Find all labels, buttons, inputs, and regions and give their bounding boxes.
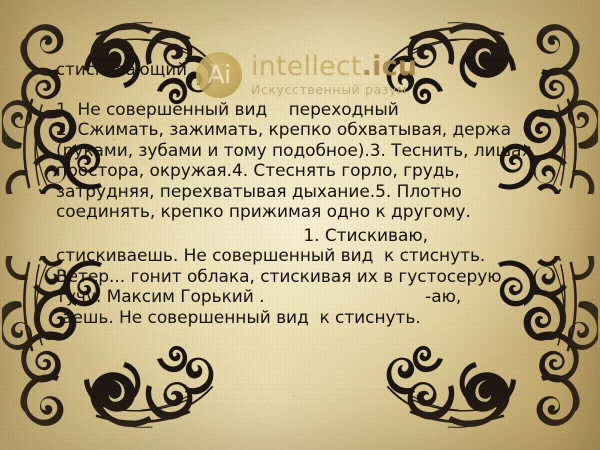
definition-line: затрудняя, перехватывая дыхание.5. Плотн… (56, 182, 556, 203)
definition-line: простора, окружая.4. Стеснять горло, гру… (56, 161, 556, 182)
conjugation-line: тучу. Максим Горький . -аю, (56, 287, 556, 308)
parchment-page: Ai intellect.icu Искусственный разум сти… (0, 0, 600, 450)
definition-line: соединять, крепко прижимая одно к другом… (56, 202, 556, 223)
conjugation-line: -аешь. Не совершенный вид к стиснуть. (56, 308, 556, 329)
conjugation-block: 1. Стискиваю, стискиваешь. Не совершенны… (56, 226, 556, 329)
conjugation-heading: 1. Стискиваю, (56, 226, 556, 247)
definition-line: (руками, зубами и тому подобное).3. Тесн… (56, 141, 556, 162)
definition-line: 1. Не совершенный вид переходный (56, 100, 556, 121)
dictionary-article: стискивающий 1. Не совершенный вид перех… (56, 60, 556, 328)
definition-line: 2. Сжимать, зажимать, крепко обхватывая,… (56, 120, 556, 141)
page-title: стискивающий (56, 60, 556, 81)
definition-block: 1. Не совершенный вид переходный 2. Сжим… (56, 100, 556, 223)
conjugation-line: стискиваешь. Не совершенный вид к стисну… (56, 246, 556, 267)
conjugation-line: Ветер... гонит облака, стискивая их в гу… (56, 267, 556, 288)
